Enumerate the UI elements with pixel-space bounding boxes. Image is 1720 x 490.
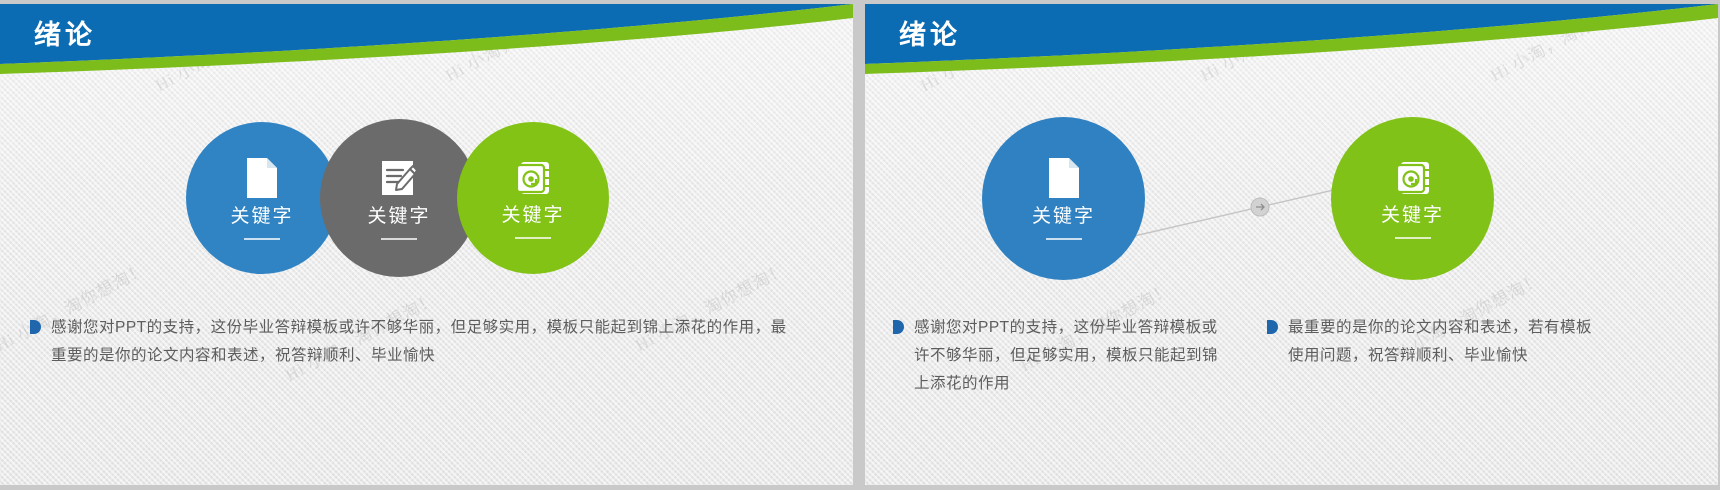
- header-green-accent: [0, 4, 853, 74]
- bullet-text: 感谢您对PPT的支持，这份毕业答辩模板或许不够华丽，但足够实用，模板只能起到锦上…: [914, 314, 1223, 398]
- bullet-list: 感谢您对PPT的支持，这份毕业答辩模板或许不够华丽，但足够实用，模板只能起到锦上…: [893, 314, 1693, 398]
- page-title: 绪论: [34, 18, 96, 52]
- bullet-item[interactable]: 感谢您对PPT的支持，这份毕业答辩模板或许不够华丽，但足够实用，模板只能起到锦上…: [30, 314, 790, 370]
- header-blue-shape: [865, 4, 1718, 64]
- slide-header-banner: [0, 4, 853, 134]
- address-book-icon: [1392, 158, 1434, 198]
- bullet-marker-icon: [30, 320, 41, 334]
- keyword-circle-blue[interactable]: 关键字: [982, 117, 1145, 280]
- bullet-marker-icon: [1267, 320, 1278, 334]
- keyword-circle-label: 关键字: [230, 205, 293, 229]
- slide-2[interactable]: Hi 小淘，淘你想淘！ Hi 小淘，淘你想淘！ Hi 小淘，淘你想淘！ Hi 小…: [865, 4, 1718, 485]
- bullet-text: 最重要的是你的论文内容和表述，若有模板使用问题，祝答辩顺利、毕业愉快: [1288, 314, 1607, 370]
- slide-deck: Hi 小淘，淘你想淘！ Hi 小淘，淘你想淘！ Hi 小淘，淘你想淘！ Hi 小…: [0, 0, 1720, 490]
- header-green-accent: [865, 4, 1718, 74]
- label-underline: [1046, 238, 1082, 240]
- keyword-circle-green[interactable]: 关键字: [457, 122, 609, 274]
- label-underline: [381, 238, 417, 240]
- keyword-circle-label: 关键字: [1381, 204, 1444, 228]
- label-underline: [244, 238, 280, 240]
- page-title: 绪论: [899, 18, 961, 52]
- edit-pencil-icon: [379, 157, 419, 199]
- bullet-item[interactable]: 最重要的是你的论文内容和表述，若有模板使用问题，祝答辩顺利、毕业愉快: [1267, 314, 1607, 398]
- slide-1[interactable]: Hi 小淘，淘你想淘！ Hi 小淘，淘你想淘！ Hi 小淘，淘你想淘！ Hi 小…: [0, 4, 853, 485]
- keyword-circle-label: 关键字: [1032, 205, 1095, 229]
- keyword-circle-green[interactable]: 关键字: [1331, 117, 1494, 280]
- watermark: Hi 小淘，淘你想淘！: [440, 4, 600, 86]
- label-underline: [515, 237, 551, 239]
- keyword-circle-label: 关键字: [367, 205, 430, 229]
- bullet-list: 感谢您对PPT的支持，这份毕业答辩模板或许不够华丽，但足够实用，模板只能起到锦上…: [30, 314, 790, 370]
- watermark: Hi 小淘，淘你想淘！: [150, 4, 310, 96]
- watermark: Hi 小淘，淘你想淘！: [1485, 4, 1645, 86]
- connector-node: [1251, 198, 1269, 216]
- bullet-marker-icon: [893, 320, 904, 334]
- header-blue-shape: [0, 4, 853, 64]
- document-icon: [1047, 157, 1081, 199]
- keyword-circle-label: 关键字: [501, 204, 564, 228]
- address-book-icon: [512, 158, 554, 198]
- document-icon: [245, 157, 279, 199]
- keyword-circle-gray[interactable]: 关键字: [320, 119, 478, 277]
- slide-divider: [853, 0, 865, 490]
- slide-header-banner: [865, 4, 1718, 134]
- connector-arrow-icon: [1256, 204, 1264, 210]
- bullet-item[interactable]: 感谢您对PPT的支持，这份毕业答辩模板或许不够华丽，但足够实用，模板只能起到锦上…: [893, 314, 1223, 398]
- watermark: Hi 小淘，淘你想淘！: [1195, 4, 1355, 86]
- bullet-text: 感谢您对PPT的支持，这份毕业答辩模板或许不够华丽，但足够实用，模板只能起到锦上…: [51, 314, 790, 370]
- keyword-circle-blue[interactable]: 关键字: [186, 122, 338, 274]
- label-underline: [1395, 237, 1431, 239]
